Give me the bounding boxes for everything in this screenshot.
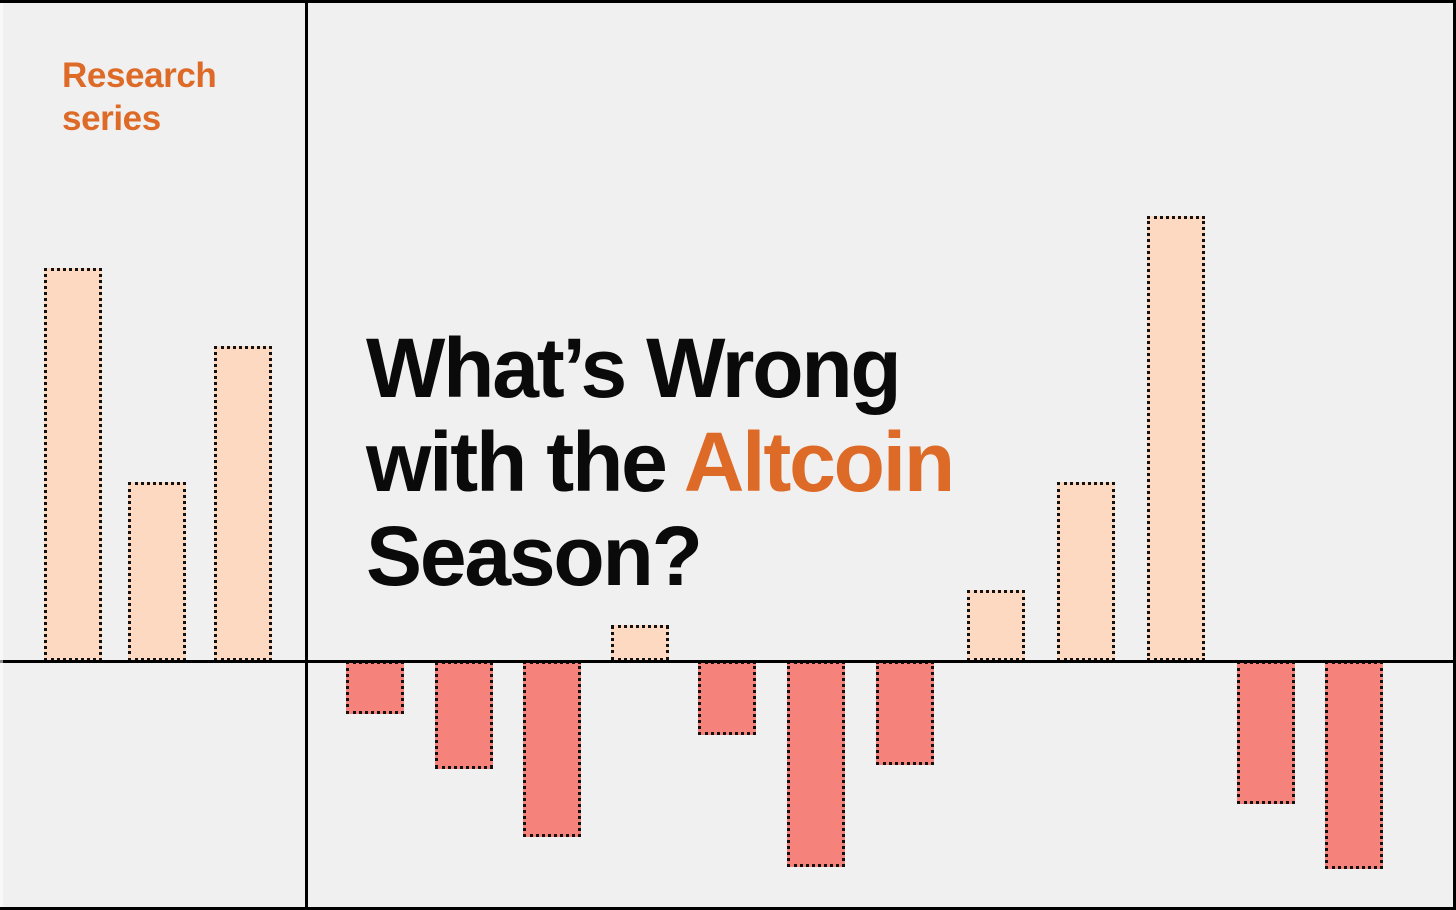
chart-bar xyxy=(346,661,404,714)
headline-line-1: What’s Wrong xyxy=(366,321,1066,415)
chart-bar xyxy=(1237,661,1295,804)
headline-line-2: with the Altcoin xyxy=(366,415,1066,509)
headline-accent-altcoin: Altcoin xyxy=(684,415,953,509)
page-title: What’s Wrong with the Altcoin Season? xyxy=(366,321,1066,603)
chart-bar xyxy=(435,661,493,769)
chart-bar xyxy=(44,268,102,661)
headline-line-2-prefix: with the xyxy=(366,415,684,509)
chart-bar xyxy=(1325,661,1383,869)
headline-line-3: Season? xyxy=(366,509,1066,603)
chart-bar xyxy=(787,661,845,867)
chart-bar xyxy=(523,661,581,837)
chart-bar xyxy=(128,482,186,661)
chart-bar xyxy=(1147,216,1205,661)
chart-zero-baseline xyxy=(0,660,1453,663)
kicker-line-1: Research xyxy=(62,55,292,98)
article-cover-card: Research series What’s Wrong with the Al… xyxy=(0,0,1456,910)
panel-divider-line xyxy=(305,3,308,907)
chart-bar xyxy=(214,346,272,661)
kicker-line-2: series xyxy=(62,98,292,141)
chart-bar xyxy=(698,661,756,735)
chart-bar xyxy=(876,661,934,765)
left-panel-edge xyxy=(0,3,3,907)
kicker-research-series: Research series xyxy=(62,55,292,140)
chart-bar xyxy=(611,625,669,661)
